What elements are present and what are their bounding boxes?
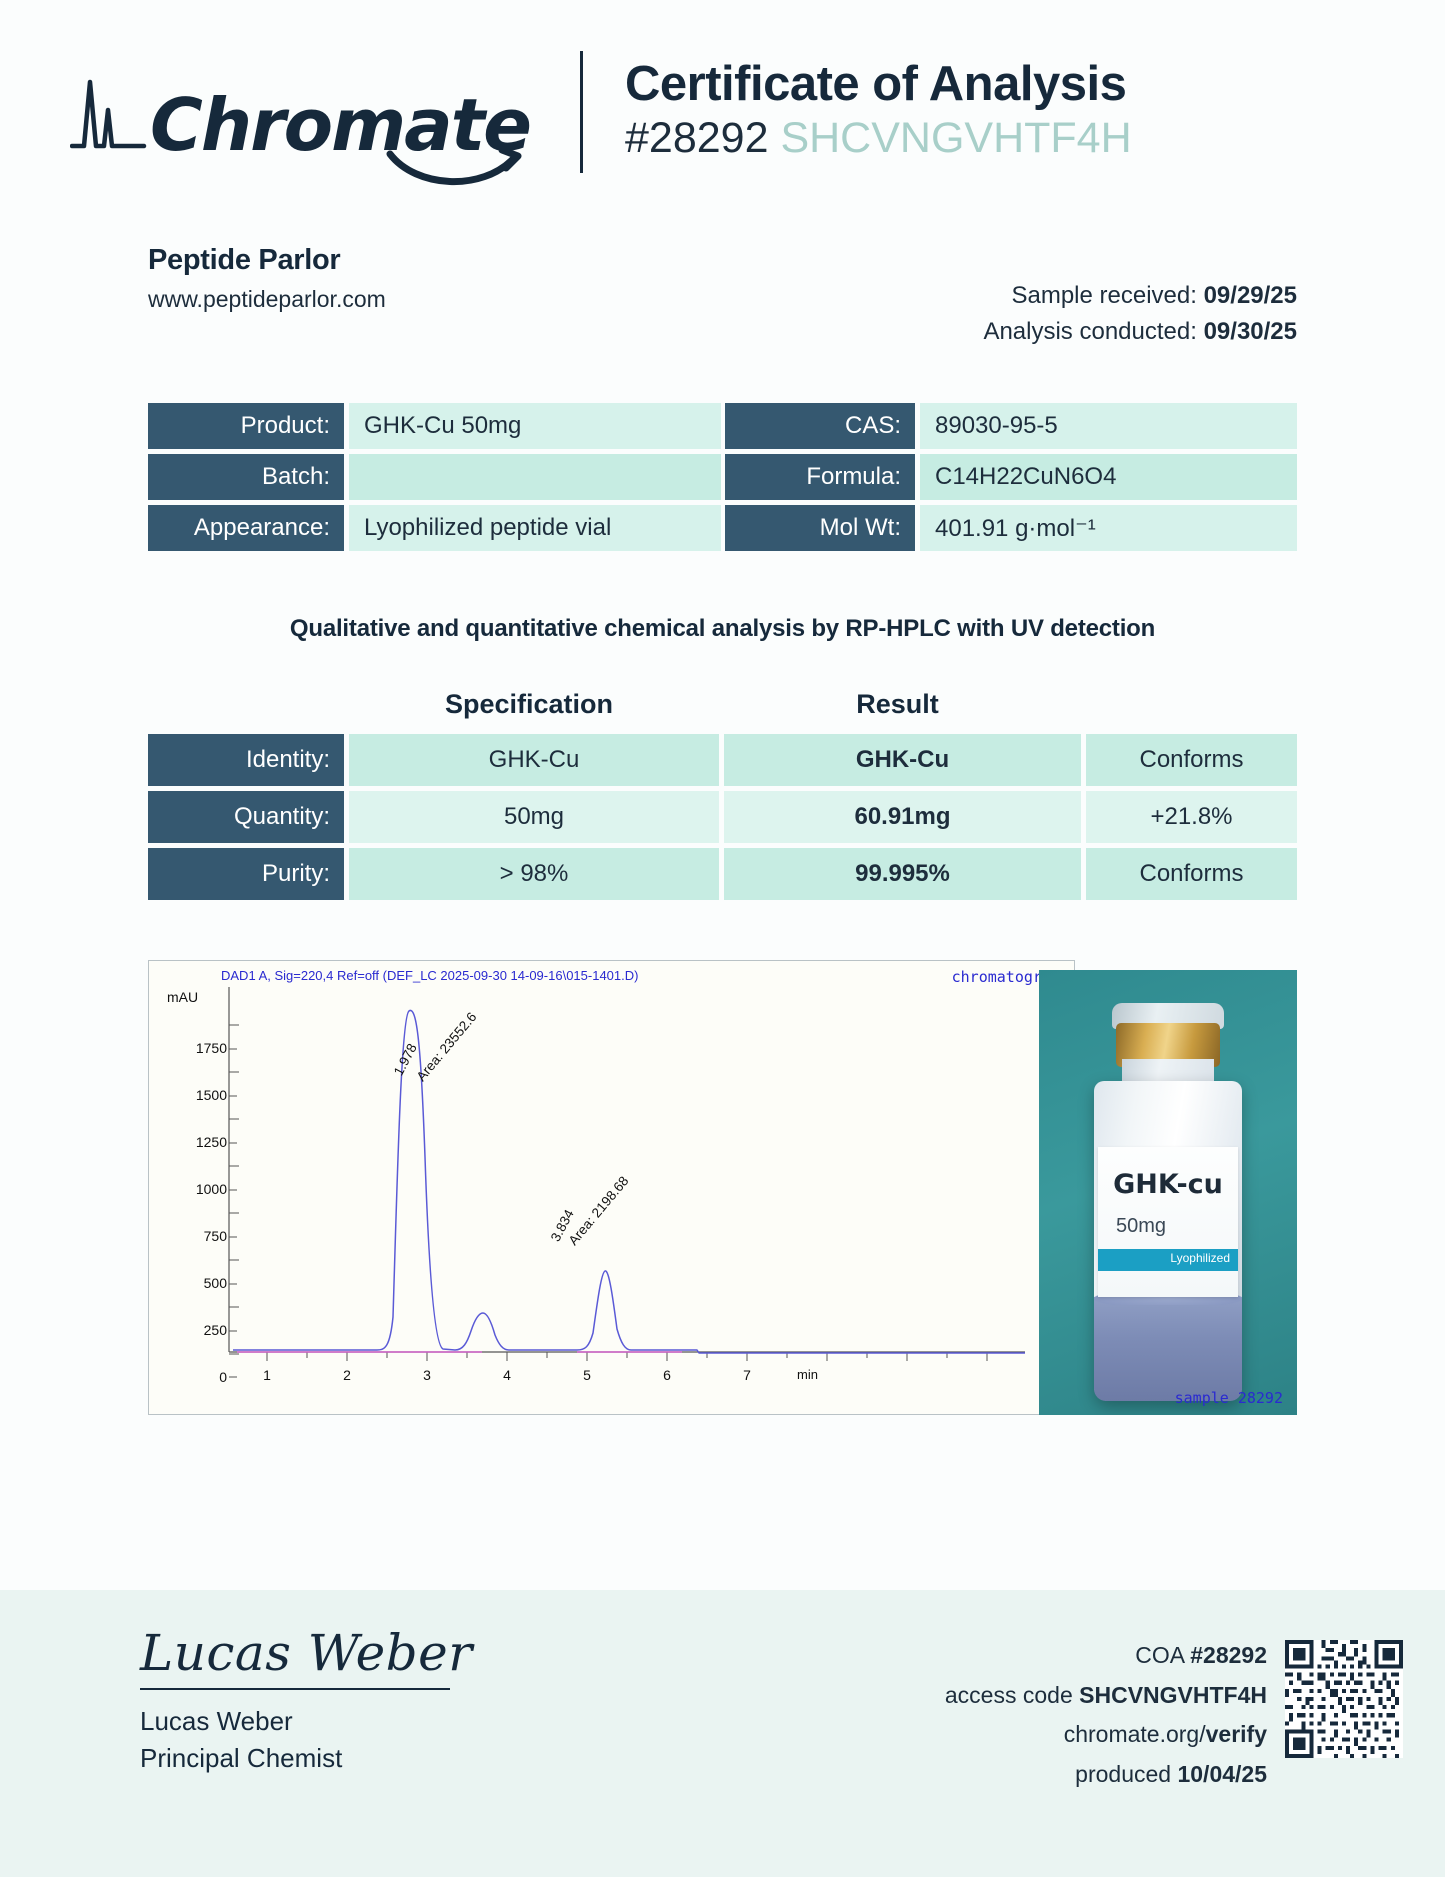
analysis-conducted-row: Analysis conducted: 09/30/25 [983,314,1297,350]
signature-image: Lucas Weber [140,1624,473,1682]
vial-label-title: GHK-cu [1098,1169,1238,1200]
info-row-appearance: Appearance: Lyophilized peptide vial [148,505,721,551]
footer-coa-number: #28292 [1190,1642,1267,1668]
results-spec-identity: GHK-Cu [349,734,719,786]
chromatogram-peak-icon [70,66,148,158]
chromatogram-section: DAD1 A, Sig=220,4 Ref=off (DEF_LC 2025-0… [148,960,1297,1415]
footer-coa-row: COA #28292 [945,1636,1267,1676]
document-footer: Lucas Weber Lucas Weber Principal Chemis… [0,1590,1445,1877]
sample-received-row: Sample received: 09/29/25 [983,278,1297,314]
coa-document: Chromate Certificate of Analysis #28292 … [0,0,1445,1877]
results-key-purity: Purity: [148,848,344,900]
client-section: Peptide Parlor www.peptideparlor.com Sam… [0,182,1445,349]
x-tick-4: 4 [503,1367,511,1383]
signer-name: Lucas Weber [140,1706,473,1737]
x-axis-label: min [797,1367,818,1382]
footer-access-row: access code SHCVNGVHTF4H [945,1676,1267,1716]
footer-verify-domain: chromate.org/ [1064,1721,1206,1747]
info-key-appearance: Appearance: [148,505,344,551]
info-value-molwt: 401.91 g·mol⁻¹ [920,505,1297,551]
info-value-appearance: Lyophilized peptide vial [349,505,721,551]
info-key-product: Product: [148,403,344,449]
results-key-quantity: Quantity: [148,791,344,843]
status-badge-purity: Conforms [1086,848,1297,900]
coa-access-code: SHCVNGVHTF4H [780,114,1131,162]
results-result-purity: 99.995% [724,848,1081,900]
status-badge-identity: Conforms [1086,734,1297,786]
results-row-purity: Purity: > 98% 99.995% Conforms [148,848,1297,900]
y-tick-500: 500 [204,1275,227,1291]
vial-sample-tag: sample 28292 [1175,1389,1283,1407]
results-header-row: Specification Result [148,689,1297,720]
verification-block: COA #28292 access code SHCVNGVHTF4H chro… [945,1636,1267,1794]
header-divider [580,51,583,173]
y-tick-1500: 1500 [196,1087,227,1103]
y-tick-1250: 1250 [196,1134,227,1150]
chromate-logo: Chromate [0,66,580,158]
x-tick-5: 5 [583,1367,591,1383]
vial-label-bar-text: Lyophilized [1170,1251,1230,1265]
analysis-conducted-label: Analysis conducted: [983,318,1196,345]
results-result-identity: GHK-Cu [724,734,1081,786]
document-header: Chromate Certificate of Analysis #28292 … [0,0,1445,182]
results-header-result: Result [719,689,1076,720]
results-result-quantity: 60.91mg [724,791,1081,843]
analysis-conducted-value: 09/30/25 [1204,318,1297,345]
page-title: Certificate of Analysis [625,59,1132,111]
vial-body: GHK-cu 50mg Lyophilized [1094,1081,1242,1401]
results-table: Specification Result Identity: GHK-Cu GH… [0,643,1445,900]
info-row-product: Product: GHK-Cu 50mg [148,403,721,449]
results-key-identity: Identity: [148,734,344,786]
chromatogram-plot: DAD1 A, Sig=220,4 Ref=off (DEF_LC 2025-0… [148,960,1075,1415]
y-tick-250: 250 [204,1322,227,1338]
info-value-formula: C14H22CuN6O4 [920,454,1297,500]
status-badge-quantity: +21.8% [1086,791,1297,843]
info-value-product: GHK-Cu 50mg [349,403,721,449]
x-tick-3: 3 [423,1367,431,1383]
x-tick-2: 2 [343,1367,351,1383]
coa-number: #28292 [625,114,769,162]
x-tick-1: 1 [263,1367,271,1383]
y-tick-750: 750 [204,1228,227,1244]
signature-line [140,1688,450,1690]
results-header-spacer [148,689,344,720]
info-key-formula: Formula: [725,454,915,500]
coa-identifier: #28292 SHCVNGVHTF4H [625,113,1132,165]
results-spec-purity: > 98% [349,848,719,900]
results-row-identity: Identity: GHK-Cu GHK-Cu Conforms [148,734,1297,786]
info-key-batch: Batch: [148,454,344,500]
smile-swoosh-icon [386,148,536,192]
footer-produced-row: produced 10/04/25 [945,1755,1267,1795]
vial-label-bar: Lyophilized [1098,1249,1238,1271]
info-key-cas: CAS: [725,403,915,449]
vial-label: GHK-cu 50mg Lyophilized [1098,1147,1238,1297]
info-key-molwt: Mol Wt: [725,505,915,551]
signer-role: Principal Chemist [140,1743,473,1774]
qr-code[interactable] [1285,1640,1403,1758]
chromatogram-title: DAD1 A, Sig=220,4 Ref=off (DEF_LC 2025-0… [221,968,638,983]
info-value-batch [349,454,721,500]
results-row-quantity: Quantity: 50mg 60.91mg +21.8% [148,791,1297,843]
vial-photo: GHK-cu 50mg Lyophilized sample 28292 [1039,970,1297,1415]
chromatogram-trace [227,987,1027,1397]
product-info-table: Product: GHK-Cu 50mg Batch: Appearance: … [0,349,1445,551]
footer-produced-date: 10/04/25 [1177,1761,1267,1787]
x-tick-6: 6 [663,1367,671,1383]
signature-block: Lucas Weber Lucas Weber Principal Chemis… [140,1624,473,1774]
info-row-molwt: Mol Wt: 401.91 g·mol⁻¹ [725,505,1297,551]
footer-access-code: SHCVNGVHTF4H [1079,1682,1267,1708]
x-tick-7: 7 [743,1367,751,1383]
vial-label-dose: 50mg [1116,1215,1166,1238]
y-axis-ticks: 0 250 500 750 1000 1250 1500 1750 [167,961,227,1416]
info-row-formula: Formula: C14H22CuN6O4 [725,454,1297,500]
vial-powder [1094,1297,1242,1401]
footer-verify-path: verify [1206,1721,1267,1747]
date-block: Sample received: 09/29/25 Analysis condu… [983,244,1297,349]
info-row-batch: Batch: [148,454,721,500]
y-tick-1000: 1000 [196,1181,227,1197]
sample-received-label: Sample received: [1011,282,1196,309]
results-header-specification: Specification [344,689,714,720]
y-tick-1750: 1750 [196,1040,227,1056]
info-row-cas: CAS: 89030-95-5 [725,403,1297,449]
info-value-cas: 89030-95-5 [920,403,1297,449]
footer-verify-row[interactable]: chromate.org/verify [945,1715,1267,1755]
footer-access-label: access code [945,1682,1073,1708]
sample-received-value: 09/29/25 [1204,282,1297,309]
client-website: www.peptideparlor.com [148,286,386,313]
footer-coa-label: COA [1135,1642,1184,1668]
results-spec-quantity: 50mg [349,791,719,843]
client-name: Peptide Parlor [148,244,386,277]
analysis-description: Qualitative and quantitative chemical an… [0,551,1445,643]
y-tick-0: 0 [219,1369,227,1385]
footer-produced-label: produced [1075,1761,1171,1787]
